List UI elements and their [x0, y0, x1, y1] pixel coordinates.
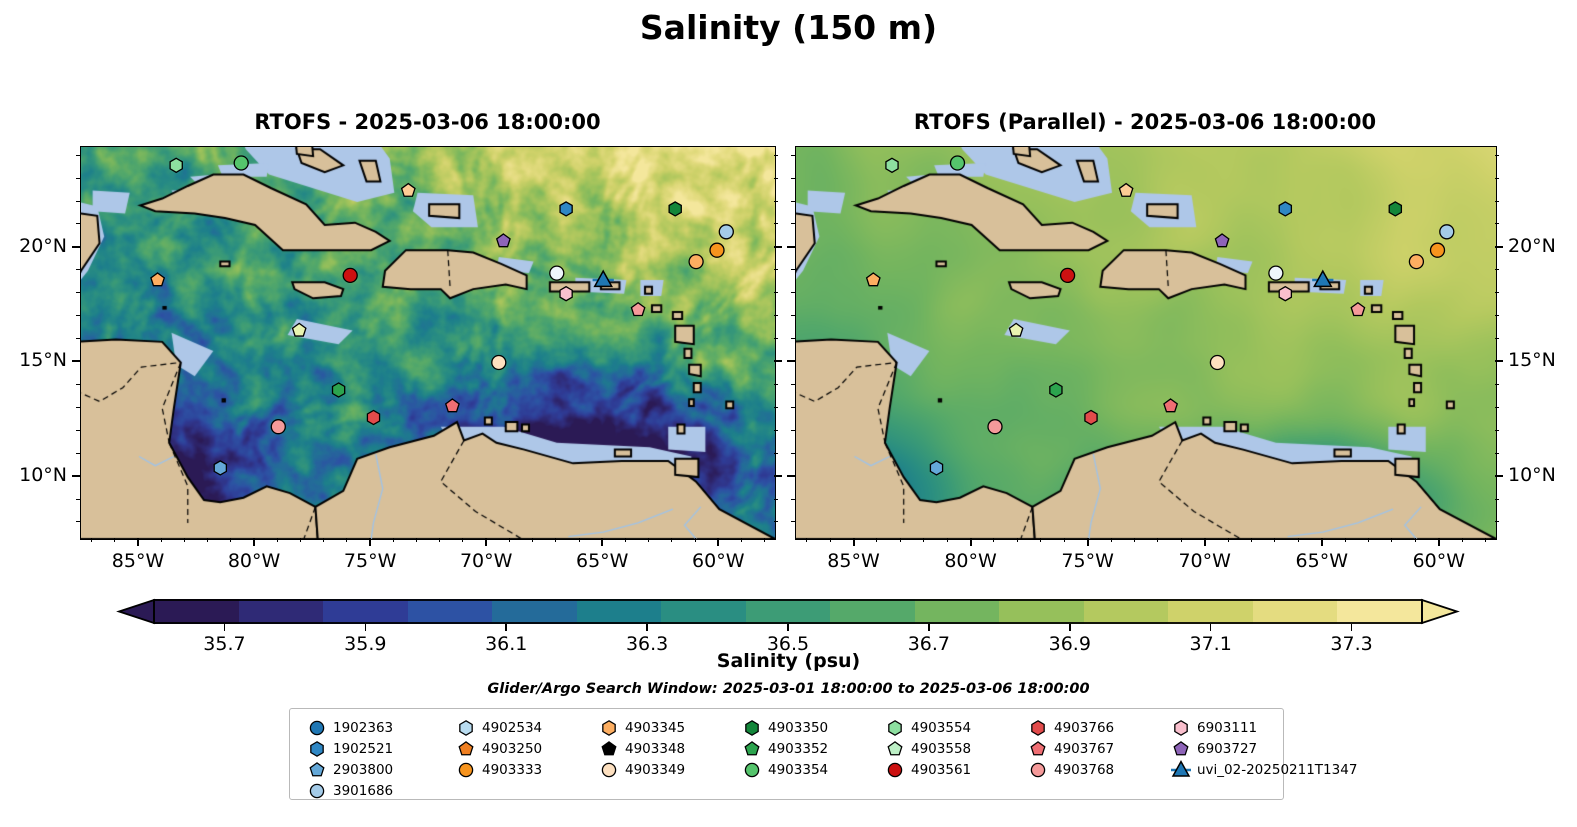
axis-tick [555, 538, 556, 542]
axis-tick [76, 269, 80, 270]
axis-tick-label: 60°W [1413, 550, 1465, 572]
axis-tick [787, 246, 795, 248]
axis-tick [1495, 155, 1499, 156]
axis-tick [900, 538, 901, 542]
axis-tick [671, 538, 672, 542]
axis-tick [76, 178, 80, 179]
axis-tick [72, 246, 80, 248]
axis-tick [774, 407, 778, 408]
legend-label: 4903352 [768, 741, 828, 757]
legend-item[interactable]: 4903349 [596, 759, 685, 781]
axis-tick-label: 15°N [19, 349, 67, 371]
axis-tick-label: 80°W [228, 550, 280, 572]
axis-tick [485, 538, 487, 546]
legend-item[interactable]: 3901686 [304, 780, 393, 802]
map-marker[interactable] [930, 461, 942, 475]
hexagon-icon [304, 738, 326, 760]
axis-tick [1298, 538, 1299, 542]
axis-tick [509, 538, 510, 542]
panel-title-rtofs-parallel: RTOFS (Parallel) - 2025-03-06 18:00:00 [795, 110, 1495, 134]
map-marker[interactable] [1351, 303, 1364, 316]
axis-tick [791, 269, 795, 270]
axis-tick [1495, 384, 1499, 385]
pentagon-icon [304, 759, 326, 781]
circle-icon [304, 780, 326, 802]
axis-tick-label: 85°W [112, 550, 164, 572]
map-marker[interactable] [214, 461, 226, 475]
axis-tick [791, 521, 795, 522]
axis-tick [137, 538, 139, 546]
legend-item[interactable]: 4903350 [739, 717, 828, 739]
legend-label: 4903349 [625, 762, 685, 778]
axis-tick [1495, 407, 1499, 408]
axis-tick-label: 80°W [944, 550, 996, 572]
legend-item[interactable]: uvi_02-20250211T1347 [1168, 759, 1357, 781]
axis-tick-label: 10°N [19, 464, 67, 486]
axis-tick [91, 538, 92, 542]
axis-tick [76, 430, 80, 431]
axis-tick [76, 499, 80, 500]
axis-tick [1485, 538, 1486, 542]
map-marker[interactable] [497, 234, 510, 247]
legend-item[interactable]: 6903111 [1168, 717, 1257, 739]
search-window-text: Glider/Argo Search Window: 2025-03-01 18… [0, 681, 1577, 697]
axis-tick [416, 538, 417, 542]
legend-label: 4903768 [1054, 762, 1114, 778]
marker-layer-rtofs-parallel [796, 147, 1496, 539]
legend-item[interactable]: 4903250 [453, 738, 542, 760]
map-marker[interactable] [593, 271, 614, 286]
axis-tick [1111, 538, 1112, 542]
axis-tick [76, 315, 80, 316]
axis-tick-label: 75°W [344, 550, 396, 572]
legend-item[interactable]: 4903352 [739, 738, 828, 760]
axis-tick [625, 538, 626, 542]
axis-tick [532, 538, 533, 542]
legend-item[interactable]: 4903558 [882, 738, 971, 760]
legend-label: 1902363 [333, 720, 393, 736]
map-marker[interactable] [1269, 266, 1283, 280]
legend-item[interactable]: 4903561 [882, 759, 971, 781]
axis-tick [76, 155, 80, 156]
axis-tick [1321, 538, 1323, 546]
pentagon-icon [453, 738, 475, 760]
map-panel-rtofs-parallel[interactable] [795, 146, 1497, 540]
circle-icon [739, 759, 761, 781]
axis-tick [114, 538, 115, 542]
axis-tick [1495, 453, 1499, 454]
axis-tick [1251, 538, 1252, 542]
map-marker[interactable] [1210, 356, 1224, 370]
axis-tick [1495, 338, 1499, 339]
axis-tick [791, 338, 795, 339]
axis-tick [1274, 538, 1275, 542]
colorbar-title: Salinity (psu) [0, 650, 1577, 672]
axis-tick [774, 384, 778, 385]
colorbar [118, 599, 1458, 624]
axis-tick [741, 538, 742, 542]
axis-tick [346, 538, 347, 542]
axis-tick [1495, 292, 1499, 293]
axis-tick [774, 360, 782, 362]
axis-tick-label: 75°W [1061, 550, 1113, 572]
axis-tick [774, 430, 778, 431]
axis-tick [774, 292, 778, 293]
map-marker[interactable] [343, 268, 357, 282]
axis-tick [923, 538, 924, 542]
circle-icon [596, 759, 618, 781]
axis-tick-label: 70°W [1178, 550, 1230, 572]
axis-tick [787, 475, 795, 477]
axis-tick [791, 178, 795, 179]
legend-label: 4903561 [911, 762, 971, 778]
map-marker[interactable] [669, 202, 681, 216]
colorbar-outline [154, 600, 1422, 623]
axis-tick [76, 223, 80, 224]
axis-tick [1368, 538, 1369, 542]
legend-item[interactable]: 6903727 [1168, 738, 1257, 760]
map-marker[interactable] [1164, 399, 1177, 412]
axis-tick [806, 538, 807, 542]
pentagon-icon [1168, 738, 1190, 760]
map-marker[interactable] [1440, 225, 1454, 239]
axis-tick [601, 538, 603, 546]
panel-title-rtofs: RTOFS - 2025-03-06 18:00:00 [80, 110, 775, 134]
legend-label: 4903766 [1054, 720, 1114, 736]
legend-item[interactable]: 4902534 [453, 717, 542, 739]
axis-tick-label: 15°N [1508, 349, 1556, 371]
hexagon-icon [453, 717, 475, 739]
axis-tick [791, 155, 795, 156]
axis-tick [184, 538, 185, 542]
map-marker[interactable] [1050, 383, 1062, 397]
legend-label: 4903333 [482, 762, 542, 778]
axis-tick [1204, 538, 1206, 546]
axis-tick [695, 538, 696, 542]
map-marker[interactable] [550, 266, 564, 280]
map-marker[interactable] [951, 156, 965, 170]
axis-tick [579, 538, 580, 542]
map-marker[interactable] [560, 287, 572, 301]
colorbar-tick [928, 624, 930, 631]
legend-label: 4903345 [625, 720, 685, 736]
axis-tick [393, 538, 394, 542]
axis-tick [1495, 360, 1503, 362]
axis-tick-label: 85°W [827, 550, 879, 572]
map-marker[interactable] [234, 156, 248, 170]
axis-tick [774, 499, 778, 500]
map-marker[interactable] [560, 202, 572, 216]
hexagon-icon [596, 717, 618, 739]
hexagon-icon [1025, 717, 1047, 739]
axis-tick [76, 453, 80, 454]
pentagon-icon [596, 738, 618, 760]
map-marker[interactable] [1431, 243, 1445, 257]
map-marker[interactable] [1312, 271, 1333, 286]
circle-icon [453, 759, 475, 781]
axis-tick [1462, 538, 1463, 542]
hexagon-icon [1168, 717, 1190, 739]
map-marker[interactable] [1409, 255, 1423, 269]
axis-tick [993, 538, 994, 542]
legend-label: 4902534 [482, 720, 542, 736]
legend-item[interactable]: 2903800 [304, 759, 393, 781]
legend-label: 3901686 [333, 783, 393, 799]
map-panel-rtofs[interactable] [80, 146, 776, 540]
axis-tick [1040, 538, 1041, 542]
axis-tick [774, 223, 778, 224]
legend-label: 4903354 [768, 762, 828, 778]
axis-tick [72, 360, 80, 362]
colorbar-tick [646, 624, 648, 631]
axis-tick [791, 292, 795, 293]
axis-tick [791, 384, 795, 385]
axis-tick [207, 538, 208, 542]
axis-tick [774, 246, 782, 248]
axis-tick [1415, 538, 1416, 542]
legend-item[interactable]: 4903768 [1025, 759, 1114, 781]
map-marker[interactable] [631, 303, 644, 316]
map-marker[interactable] [333, 383, 345, 397]
legend-label: 6903111 [1197, 720, 1257, 736]
hexagon-icon [739, 717, 761, 739]
map-marker[interactable] [1085, 410, 1097, 424]
axis-tick [1345, 538, 1346, 542]
pentagon-icon [1025, 738, 1047, 760]
axis-tick-label: 60°W [692, 550, 744, 572]
axis-tick [774, 521, 778, 522]
axis-tick [774, 475, 782, 477]
axis-tick [764, 538, 765, 542]
axis-tick [791, 315, 795, 316]
axis-tick [1017, 538, 1018, 542]
axis-tick [76, 384, 80, 385]
axis-tick [774, 155, 778, 156]
axis-tick [1157, 538, 1158, 542]
legend-item[interactable]: 4903354 [739, 759, 828, 781]
axis-tick [787, 360, 795, 362]
colorbar-extend-arrow [119, 600, 154, 623]
axis-tick [161, 538, 162, 542]
axis-tick [323, 538, 324, 542]
axis-tick [774, 201, 778, 202]
legend-box[interactable]: 1902363190252129038003901686490253449032… [289, 708, 1284, 800]
axis-tick [830, 538, 831, 542]
colorbar-tick [505, 624, 507, 631]
map-marker[interactable] [151, 273, 164, 286]
axis-tick [1495, 521, 1499, 522]
axis-tick [1087, 538, 1089, 546]
axis-tick [439, 538, 440, 542]
axis-tick [1495, 499, 1499, 500]
axis-tick [230, 538, 231, 542]
legend-label: 4903558 [911, 741, 971, 757]
axis-tick-label: 70°W [460, 550, 512, 572]
axis-tick [876, 538, 877, 542]
axis-tick-label: 65°W [1296, 550, 1348, 572]
circle-icon [1025, 759, 1047, 781]
legend-label: 4903554 [911, 720, 971, 736]
map-marker[interactable] [402, 184, 415, 197]
colorbar-tick [365, 624, 367, 631]
map-marker[interactable] [271, 420, 285, 434]
axis-tick [1495, 475, 1503, 477]
axis-tick [648, 538, 649, 542]
map-marker[interactable] [367, 410, 379, 424]
colorbar-tick [224, 624, 226, 631]
axis-tick [277, 538, 278, 542]
axis-tick [1495, 430, 1499, 431]
axis-tick [774, 315, 778, 316]
pentagon-icon [882, 738, 904, 760]
legend-label: 2903800 [333, 762, 393, 778]
axis-tick-label: 20°N [19, 235, 67, 257]
legend-label: 4903350 [768, 720, 828, 736]
axis-tick [947, 538, 948, 542]
legend-label: 4903348 [625, 741, 685, 757]
legend-label: 4903767 [1054, 741, 1114, 757]
axis-tick [774, 338, 778, 339]
axis-tick [1495, 178, 1499, 179]
axis-tick [717, 538, 719, 546]
axis-tick [76, 407, 80, 408]
colorbar-tick [1351, 624, 1353, 631]
axis-tick-label: 10°N [1508, 464, 1556, 486]
axis-tick [774, 178, 778, 179]
axis-tick [76, 292, 80, 293]
map-marker[interactable] [293, 323, 306, 336]
map-marker[interactable] [1061, 268, 1075, 282]
legend-item[interactable]: 4903333 [453, 759, 542, 781]
axis-tick [369, 538, 371, 546]
axis-tick [300, 538, 301, 542]
axis-tick [1495, 201, 1499, 202]
colorbar-extend-arrow [1422, 600, 1457, 623]
figure-title: Salinity (150 m) [0, 8, 1577, 47]
axis-tick [970, 538, 972, 546]
map-marker[interactable] [1119, 184, 1132, 197]
map-marker[interactable] [710, 243, 724, 257]
map-marker[interactable] [988, 420, 1002, 434]
map-marker[interactable] [1215, 234, 1228, 247]
axis-tick [1495, 223, 1499, 224]
axis-tick-label: 65°W [576, 550, 628, 572]
map-marker[interactable] [719, 225, 733, 239]
axis-tick [253, 538, 255, 546]
map-marker[interactable] [689, 255, 703, 269]
legend-item[interactable]: 1902363 [304, 717, 393, 739]
legend-item[interactable]: 1902521 [304, 738, 393, 760]
legend-item[interactable]: 4903767 [1025, 738, 1114, 760]
axis-tick [76, 201, 80, 202]
legend-item[interactable]: 4903766 [1025, 717, 1114, 739]
axis-tick [76, 338, 80, 339]
map-marker[interactable] [867, 273, 880, 286]
axis-tick [1495, 269, 1499, 270]
axis-tick [72, 475, 80, 477]
map-marker[interactable] [1389, 202, 1401, 216]
axis-tick [774, 269, 778, 270]
colorbar-tick [1069, 624, 1071, 631]
glider-triangle-icon [1168, 759, 1190, 781]
colorbar-tick [787, 624, 789, 631]
axis-tick [791, 201, 795, 202]
axis-tick [791, 453, 795, 454]
axis-tick [76, 521, 80, 522]
circle-icon [304, 717, 326, 739]
axis-tick [791, 499, 795, 500]
axis-tick [1181, 538, 1182, 542]
colorbar-tick [1210, 624, 1212, 631]
axis-tick [791, 223, 795, 224]
map-marker[interactable] [170, 158, 182, 172]
axis-tick [774, 453, 778, 454]
map-marker[interactable] [446, 399, 459, 412]
legend-label: 4903250 [482, 741, 542, 757]
axis-tick [1228, 538, 1229, 542]
map-marker[interactable] [886, 158, 898, 172]
legend-label: uvi_02-20250211T1347 [1197, 762, 1357, 778]
map-marker[interactable] [1279, 287, 1291, 301]
legend-item[interactable]: 4903348 [596, 738, 685, 760]
legend-label: 1902521 [333, 741, 393, 757]
axis-tick [791, 430, 795, 431]
map-marker[interactable] [492, 356, 506, 370]
axis-tick [853, 538, 855, 546]
marker-layer-rtofs [81, 147, 775, 539]
axis-tick [1391, 538, 1392, 542]
legend-label: 6903727 [1197, 741, 1257, 757]
pentagon-icon [739, 738, 761, 760]
axis-tick [1495, 315, 1499, 316]
axis-tick [791, 407, 795, 408]
axis-tick [1438, 538, 1440, 546]
axis-tick-label: 20°N [1508, 235, 1556, 257]
axis-tick [1134, 538, 1135, 542]
legend-item[interactable]: 4903345 [596, 717, 685, 739]
legend-item[interactable]: 4903554 [882, 717, 971, 739]
map-marker[interactable] [1279, 202, 1291, 216]
axis-tick [1064, 538, 1065, 542]
circle-icon [882, 759, 904, 781]
hexagon-icon [882, 717, 904, 739]
map-marker[interactable] [1009, 323, 1022, 336]
axis-tick [1495, 246, 1503, 248]
axis-tick [462, 538, 463, 542]
